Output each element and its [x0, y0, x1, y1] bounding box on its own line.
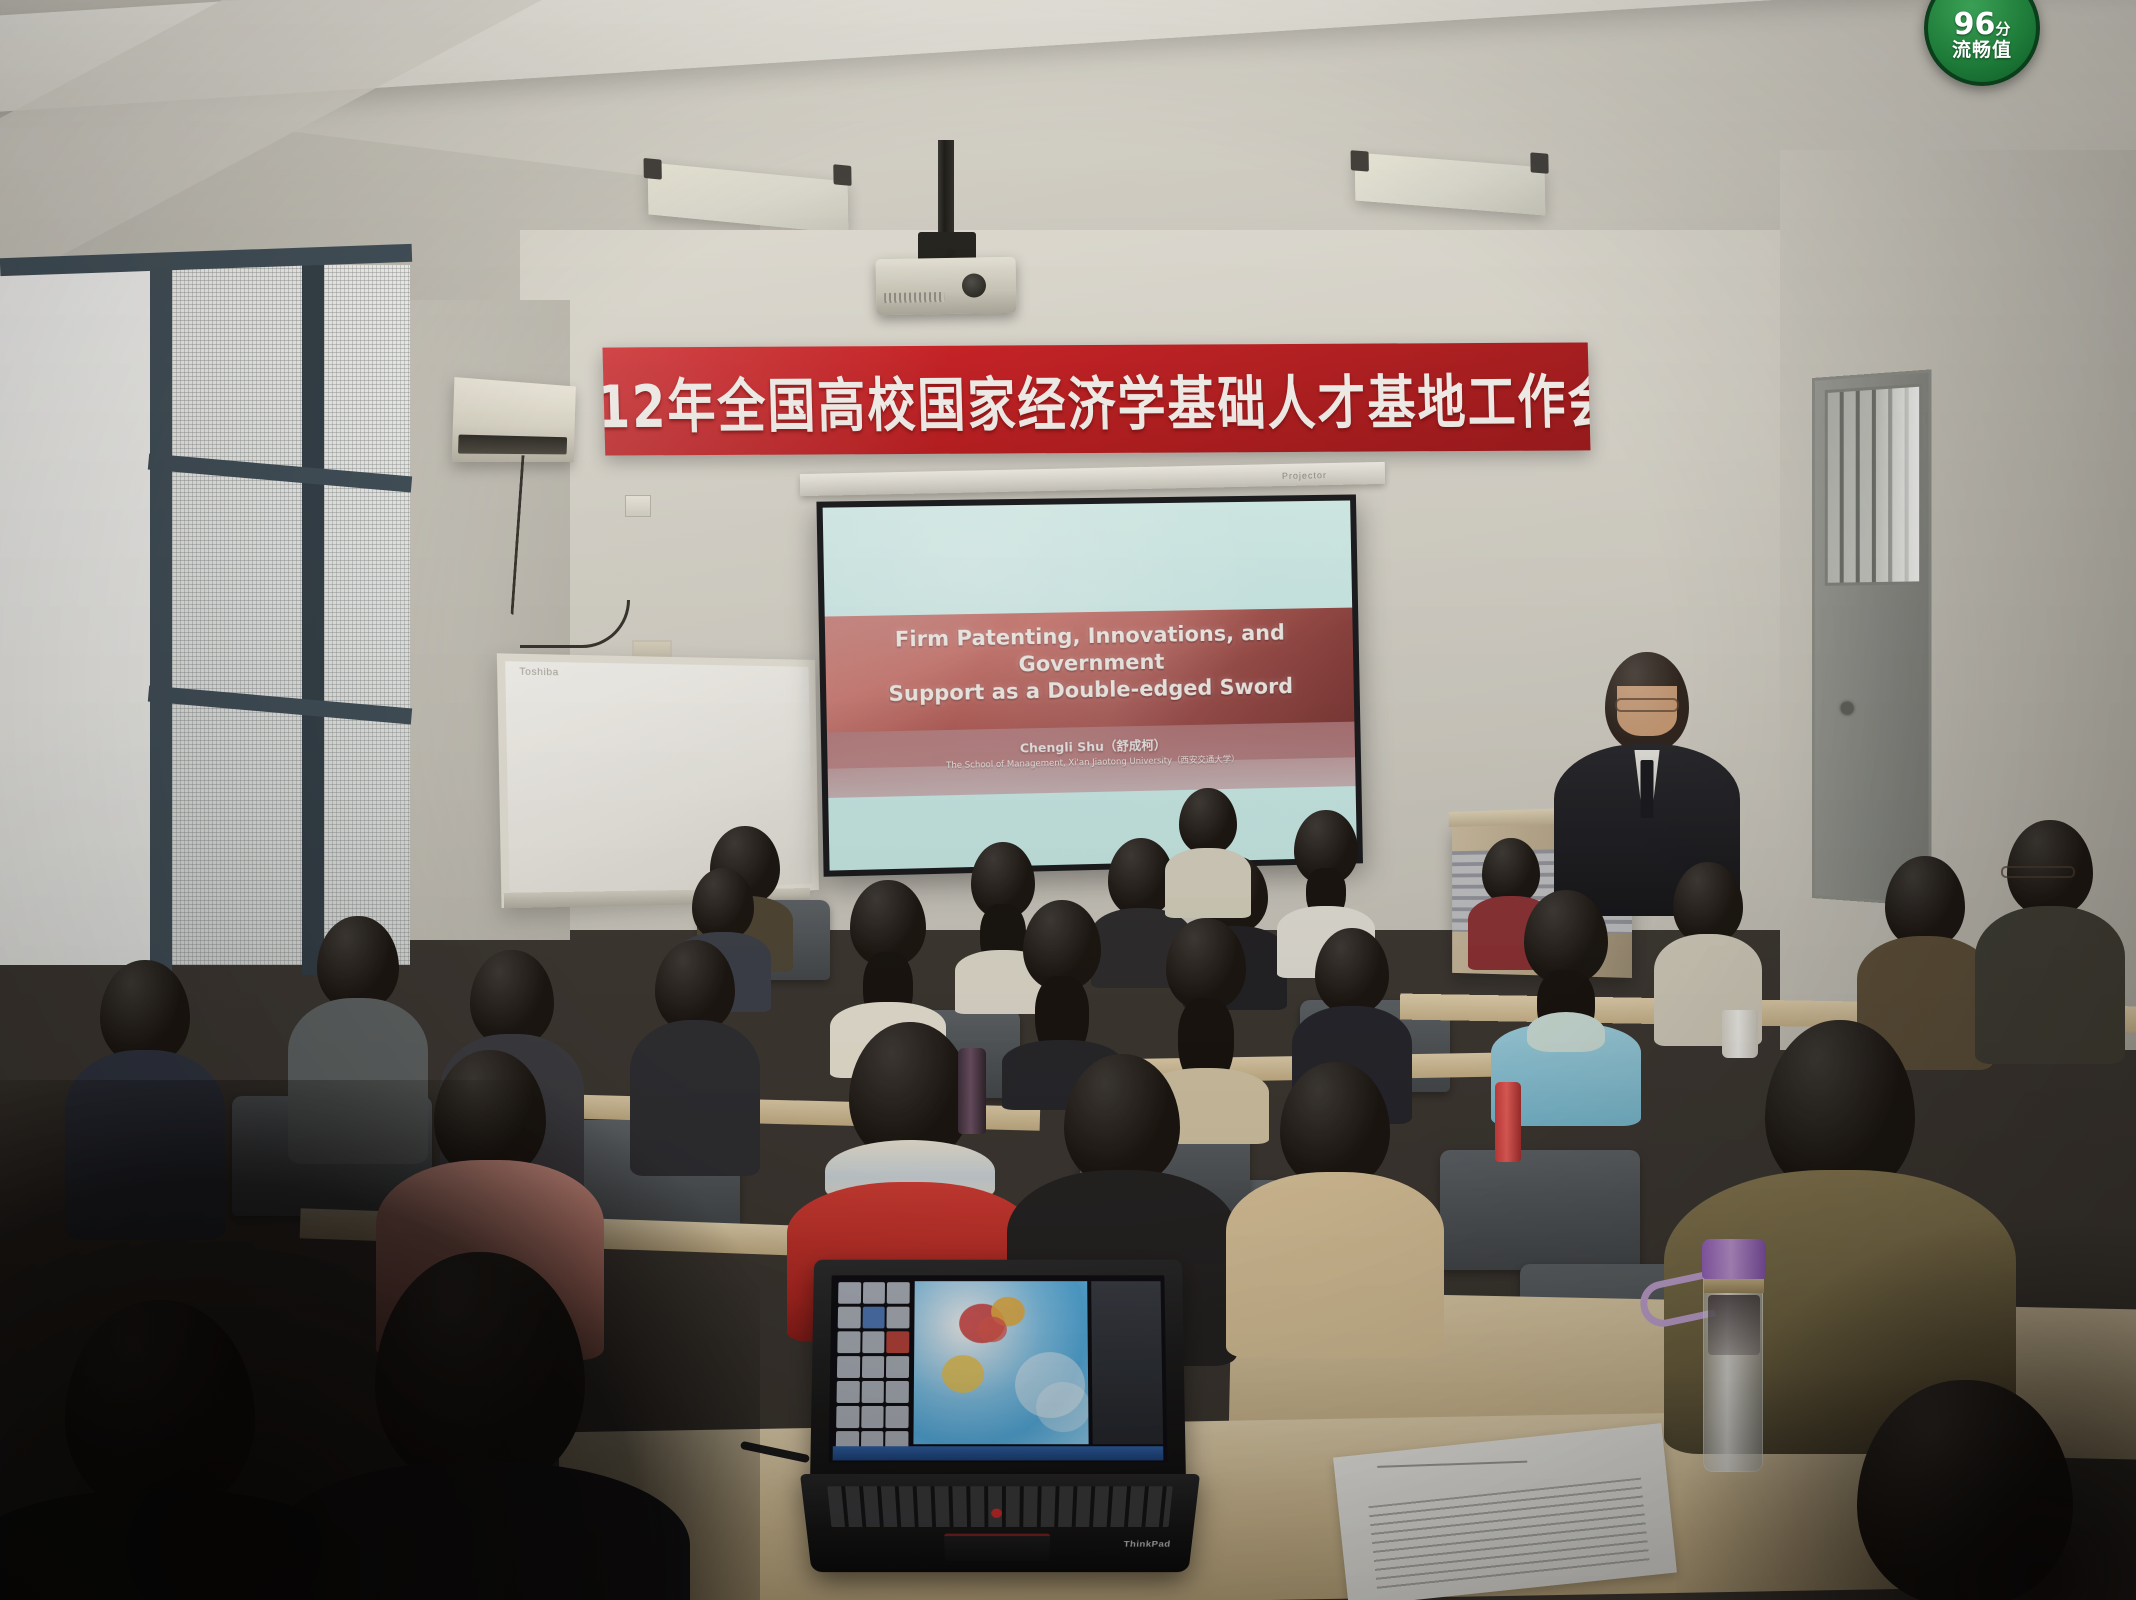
light-cap: [643, 158, 661, 180]
desktop-icon[interactable]: [887, 1307, 910, 1329]
slide-title: Firm Patenting, Innovations, and Governm…: [846, 619, 1333, 709]
window-mullion-vertical: [150, 255, 172, 975]
desktop-wallpaper: [913, 1281, 1088, 1444]
audience-member: [1990, 820, 2110, 1060]
door-window-glare: [1874, 387, 1919, 582]
wallpaper-shape: [1036, 1382, 1089, 1432]
windows-taskbar[interactable]: [833, 1446, 1164, 1460]
watermark-label: 流畅值: [1952, 41, 2012, 60]
desktop-icon[interactable]: [886, 1356, 909, 1378]
chair: [1440, 1150, 1640, 1270]
presentation-slide: Firm Patenting, Innovations, and Governm…: [823, 500, 1357, 870]
head: [1179, 788, 1237, 854]
desktop-icon[interactable]: [838, 1282, 861, 1304]
foreground-shadow-left: [0, 1080, 760, 1600]
desktop-icon[interactable]: [863, 1282, 886, 1304]
desktop-icon[interactable]: [837, 1331, 860, 1353]
head: [1885, 856, 1965, 948]
desktop-icon[interactable]: [838, 1307, 861, 1329]
wallpaper-shape: [977, 1317, 1007, 1343]
thinkpad-logo-text: ThinkPad: [1123, 1540, 1171, 1549]
desktop-icon[interactable]: [886, 1406, 909, 1428]
window-screen-mesh: [324, 265, 410, 965]
head: [655, 940, 735, 1032]
torso: [1165, 848, 1251, 918]
head: [317, 916, 399, 1010]
window-pane-bright: [0, 265, 150, 965]
desktop-icon[interactable]: [837, 1356, 860, 1378]
desktop-icon[interactable]: [837, 1381, 860, 1403]
thinkpad-laptop[interactable]: ThinkPad: [800, 1258, 1200, 1600]
desktop-icons[interactable]: [833, 1279, 913, 1458]
slide-title-line-1: Firm Patenting, Innovations, and Governm…: [846, 619, 1332, 682]
desktop-icon[interactable]: [886, 1381, 909, 1403]
white-paper-cup: [1722, 1010, 1758, 1058]
glasses-icon: [2001, 866, 2075, 878]
wallpaper-shape: [942, 1356, 984, 1394]
watermark-score-number: 96: [1954, 7, 1996, 42]
head: [692, 868, 754, 940]
ceiling-projector: [876, 257, 1017, 315]
presenter-tie: [1641, 760, 1654, 818]
desktop-icon[interactable]: [861, 1406, 884, 1428]
whiteboard-brand-label: Toshiba: [519, 666, 559, 678]
desktop-icon[interactable]: [861, 1381, 884, 1403]
head: [1673, 862, 1743, 944]
desktop-icon[interactable]: [862, 1356, 885, 1378]
presenter-head: [1605, 652, 1689, 752]
window-pane-right: [324, 265, 410, 965]
banner-text: 2012年全国高校国家经济学基础人才基地工作会议: [602, 353, 1590, 444]
window-screen-mesh: [172, 265, 302, 965]
screen-right-panel: [1091, 1281, 1163, 1444]
window-wall: [0, 265, 410, 965]
document-handwriting: [1377, 1461, 1528, 1492]
dark-thermos: [958, 1048, 986, 1134]
torso: [1975, 906, 2125, 1064]
head: [1315, 928, 1389, 1014]
red-water-bottle: [1495, 1082, 1521, 1162]
classroom-door[interactable]: [1812, 369, 1932, 906]
head: [470, 950, 554, 1046]
desktop-icon[interactable]: [862, 1307, 885, 1329]
head: [100, 960, 190, 1064]
audience-member: [1506, 890, 1626, 1120]
laptop-keyboard[interactable]: [827, 1486, 1172, 1527]
laptop-screen[interactable]: [829, 1275, 1168, 1462]
watermark-score: 96分: [1954, 10, 2011, 40]
ac-grille: [458, 435, 567, 455]
light-cap: [833, 164, 851, 186]
light-cap: [1530, 152, 1548, 173]
glasses-icon: [1615, 698, 1679, 712]
desktop-icon[interactable]: [887, 1331, 910, 1353]
trackpoint-icon[interactable]: [991, 1509, 1002, 1518]
head: [2007, 820, 2093, 916]
screen-brand-label: Projector: [1282, 470, 1327, 481]
laptop-touchpad[interactable]: [944, 1534, 1050, 1561]
projector-mount-pole: [938, 140, 954, 240]
thinkpad-logo: ThinkPad: [1123, 1540, 1171, 1549]
torso: [1226, 1172, 1444, 1358]
projector-vent: [884, 292, 944, 303]
laptop-base: ThinkPad: [800, 1474, 1200, 1572]
hood: [1527, 1012, 1605, 1052]
projector-lens: [962, 273, 986, 297]
laptop-lid: [810, 1260, 1186, 1489]
head: [1166, 918, 1246, 1010]
desktop-icon[interactable]: [836, 1406, 859, 1428]
air-conditioner: [452, 377, 576, 462]
head: [1280, 1062, 1390, 1188]
wall-power-socket[interactable]: [625, 495, 651, 517]
photo-scene: 2012年全国高校国家经济学基础人才基地工作会议 Toshiba Project…: [0, 0, 2136, 1600]
head: [1064, 1054, 1180, 1186]
conference-banner: 2012年全国高校国家经济学基础人才基地工作会议: [602, 342, 1590, 455]
document-text-lines: [1368, 1478, 1649, 1590]
audience-member: [1168, 788, 1248, 918]
audience-member: [1240, 1062, 1430, 1352]
door-handle[interactable]: [1841, 702, 1854, 715]
desktop-icon[interactable]: [862, 1331, 885, 1353]
watermark-score-unit: 分: [1995, 20, 2010, 38]
light-cap: [1351, 150, 1369, 171]
door-window: [1825, 383, 1922, 585]
desktop-icon[interactable]: [887, 1282, 910, 1304]
foreground-shadow-right: [1676, 1220, 2136, 1600]
window-mullion-vertical: [302, 255, 324, 975]
window-pane-center: [172, 265, 302, 965]
